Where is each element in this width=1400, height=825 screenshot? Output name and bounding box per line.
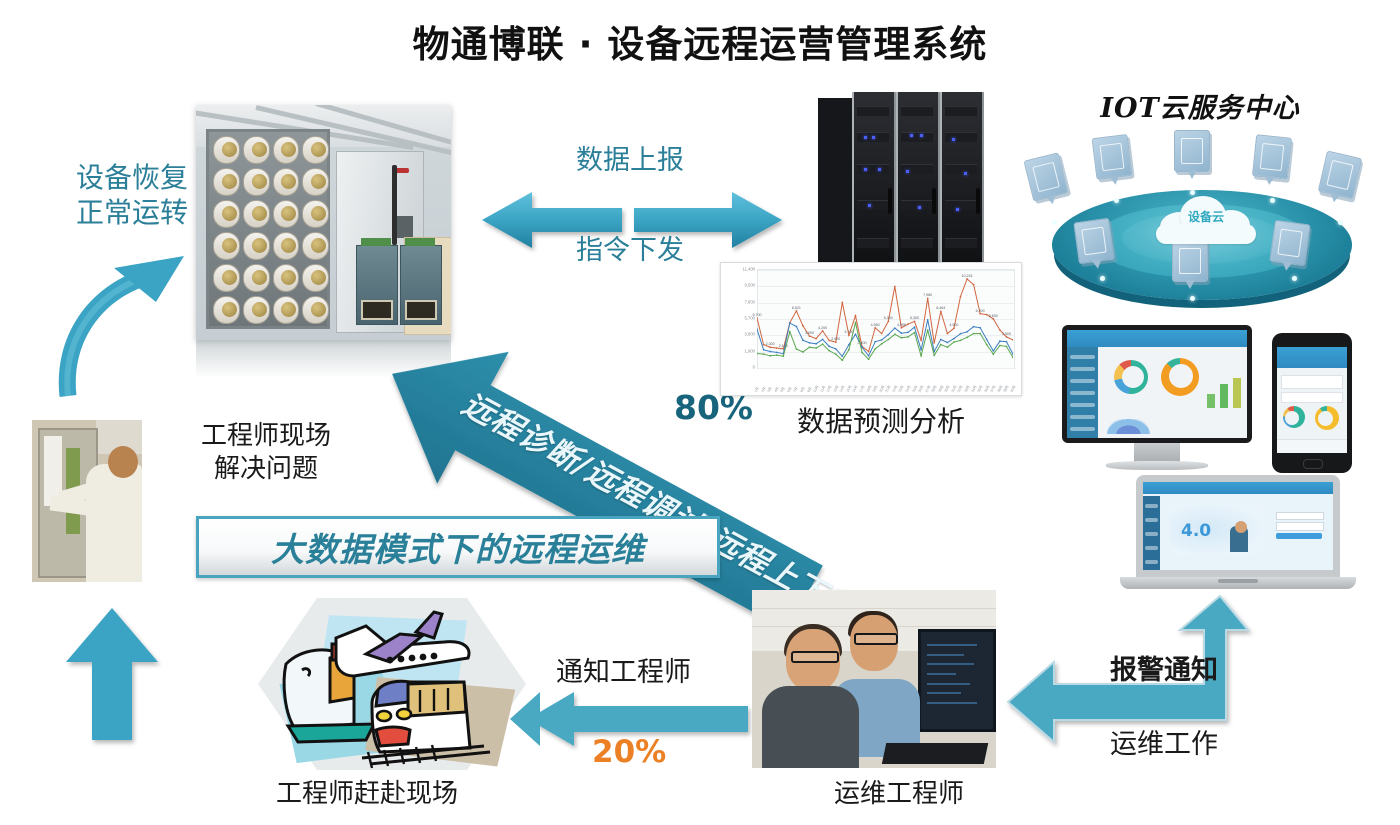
chart-y-tick: 7,600 [721,299,755,304]
iot-cloud-heading: IOT云服务中心 [1035,86,1365,125]
chart-data-label: 5,700 [753,313,762,317]
device-cloud-label: 设备云 [1154,208,1258,225]
command-down-label: 指令下发 [576,234,684,268]
chart-x-tick: 1月 [753,386,760,393]
engineer-onsite-label: 工程师现场 解决问题 [186,420,346,486]
page-title: 物通博联 · 设备远程运营管理系统 [0,14,1400,68]
ops-engineer-label: 运维工程师 [834,778,964,811]
percent-20-label: 20% [592,734,666,770]
chart-data-label: 4,500 [949,323,958,327]
chart-data-label: 3,600 [805,331,814,335]
chart-data-label: 4,200 [818,326,827,330]
chart-data-label: 5,300 [884,316,893,320]
laptop-login-device: 4.0 [1120,475,1356,600]
field-engineer-photo [32,420,142,582]
transport-clipart [258,598,526,770]
chart-y-tick: 0 [721,365,755,370]
chart-y-tick: 3,800 [721,332,755,337]
train-icon [362,681,490,768]
forecast-line-chart: 01,9003,8005,7007,6009,50011,4001月2月3月4月… [720,262,1022,396]
airplane-icon [336,612,469,676]
data-forecast-label: 数据预测分析 [797,404,965,439]
chart-y-tick: 5,700 [721,316,755,321]
chart-data-label: 2,400 [858,341,867,345]
chart-x-tick: 8月 [799,386,806,393]
engineer-travel-label: 工程师赶赴现场 [276,778,458,811]
chart-series-系列1 [757,279,1013,352]
chart-data-label: 4,558 [897,323,906,327]
chart-x-tick: 40月 [1009,384,1017,393]
data-upload-label: 数据上报 [576,144,684,178]
chart-data-label: 6,521 [792,306,801,310]
chart-data-label: 3,700 [844,330,853,334]
mobile-card-icon [1318,150,1363,199]
device-recover-label: 设备恢复 正常运转 [62,160,202,231]
mobile-dashboard-screen [1277,347,1347,453]
alarm-notice-label: 报警通知 [1110,648,1218,687]
chart-data-label: 2,900 [831,337,840,341]
document-card-icon [1073,218,1114,265]
chart-data-label: 10,234 [962,274,973,278]
chart-data-label: 5,300 [910,316,919,320]
chart-card-icon [1023,152,1068,201]
notify-engineer-label: 通知工程师 [556,656,691,690]
big-data-remote-ops-label: 大数据模式下的远程运维 [199,523,717,571]
plus-card-icon [1269,220,1310,267]
chart-data-label: 3,500 [1002,332,1011,336]
laptop-login-screen: 4.0 [1143,482,1333,570]
chart-data-label: 6,464 [936,306,945,310]
desktop-dashboard-device [1062,325,1252,475]
mobile-dashboard-device [1272,333,1352,473]
chart-data-label: 2,300 [766,342,775,346]
ops-work-label: 运维工作 [1110,728,1218,762]
chart-y-tick: 9,500 [721,283,755,288]
server-rack-photo [818,92,986,284]
transport-inbound-arrow [510,690,540,748]
chart-y-tick: 11,400 [721,267,755,272]
chart-series-系列2 [757,320,1013,356]
chart-gridline [758,368,1014,369]
chart-data-label: 5,600 [989,314,998,318]
engineer-dispatch-up-arrow [62,608,162,740]
chart-data-label: 7,980 [923,293,932,297]
big-data-remote-ops-box: 大数据模式下的远程运维 [196,516,720,578]
ops-engineers-photo [752,590,996,768]
equipment-cabinet-photo [196,105,451,340]
chart-y-tick: 1,900 [721,348,755,353]
calendar-card-icon [1092,134,1133,180]
recover-curved-arrow [52,250,202,400]
transport-vehicles-svg [258,598,526,770]
chart-data-label: 6,200 [976,309,985,313]
iot-cloud-illustration: 设备云 [1022,128,1382,318]
user-card-icon [1174,130,1210,172]
chart-data-label: 2,100 [779,344,788,348]
desktop-dashboard-screen [1067,330,1247,438]
message-card-icon [1252,134,1292,180]
monitor-card-icon [1172,240,1208,282]
chart-data-label: 4,550 [871,323,880,327]
